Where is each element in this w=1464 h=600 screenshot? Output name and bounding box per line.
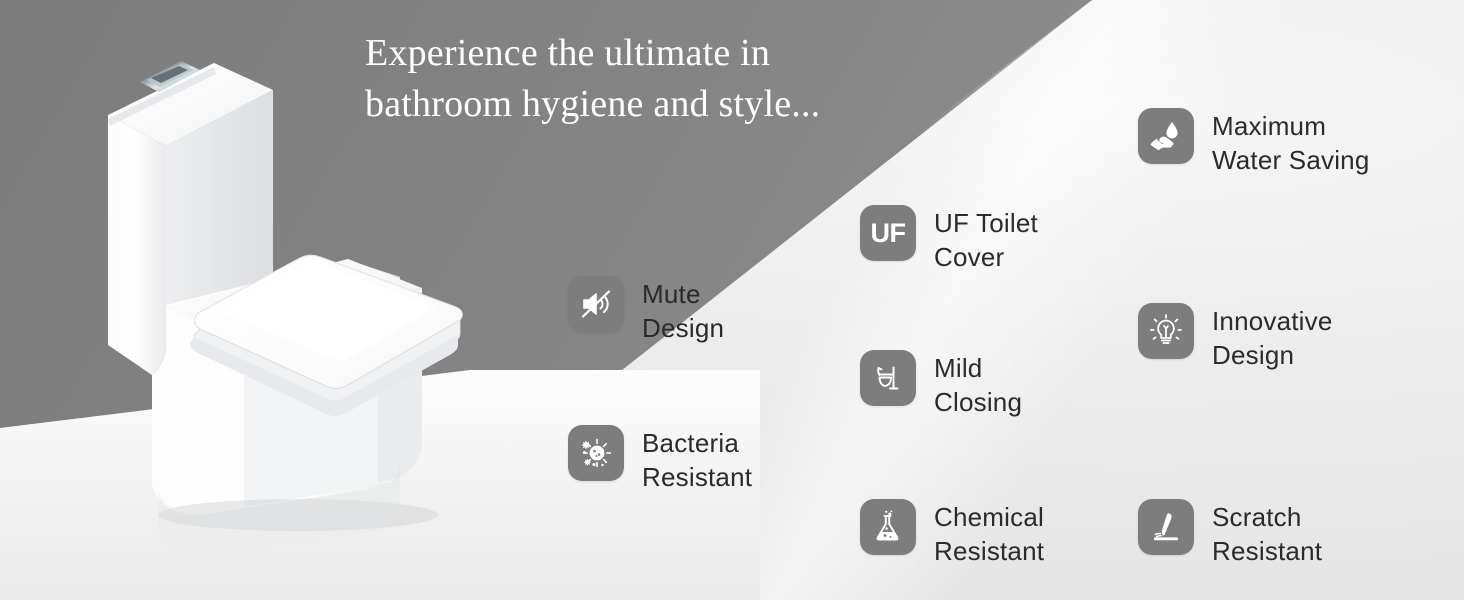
product-feature-banner: Experience the ultimate in bathroom hygi… <box>0 0 1464 600</box>
uf-text-icon: UF <box>860 205 916 261</box>
feature-label: Bacteria Resistant <box>642 425 752 495</box>
bacteria-icon <box>568 425 624 481</box>
feature-label: Maximum Water Saving <box>1212 108 1370 178</box>
lightbulb-icon <box>1138 303 1194 359</box>
feature-chemical-resistant: Chemical Resistant <box>860 499 1044 569</box>
mute-speaker-icon <box>568 276 624 332</box>
hand-water-drop-icon <box>1138 108 1194 164</box>
uf-icon-text: UF <box>871 220 906 247</box>
feature-bacteria-resistant: Bacteria Resistant <box>568 425 752 495</box>
feature-mute-design: Mute Design <box>568 276 724 346</box>
feature-mild-closing: Mild Closing <box>860 350 1022 420</box>
feature-label: UF Toilet Cover <box>934 205 1038 275</box>
feature-scratch-resistant: Scratch Resistant <box>1138 499 1322 569</box>
feature-label: Mild Closing <box>934 350 1022 420</box>
soft-close-toilet-icon <box>860 350 916 406</box>
blade-scratch-icon <box>1138 499 1194 555</box>
feature-maximum-water-saving: Maximum Water Saving <box>1138 108 1370 178</box>
flask-icon <box>860 499 916 555</box>
feature-innovative-design: Innovative Design <box>1138 303 1333 373</box>
feature-label: Chemical Resistant <box>934 499 1044 569</box>
feature-label: Scratch Resistant <box>1212 499 1322 569</box>
feature-label: Mute Design <box>642 276 724 346</box>
feature-uf-toilet-cover: UF UF Toilet Cover <box>860 205 1038 275</box>
feature-label: Innovative Design <box>1212 303 1333 373</box>
page-title: Experience the ultimate in bathroom hygi… <box>365 28 835 129</box>
